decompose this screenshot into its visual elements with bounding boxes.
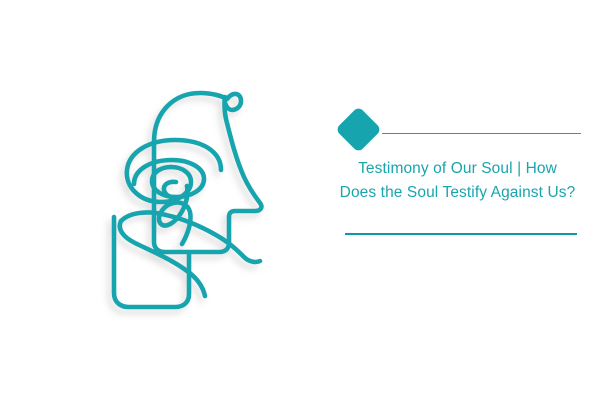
mind-spiral-inner-path: [134, 160, 204, 197]
page-title: Testimony of Our Soul | How Does the Sou…: [330, 157, 585, 205]
page-canvas: Testimony of Our Soul | How Does the Sou…: [0, 0, 600, 400]
title-header-block: Testimony of Our Soul | How Does the Sou…: [330, 105, 585, 245]
top-divider-line: [382, 133, 581, 134]
head-line-art-svg: [80, 70, 300, 320]
diamond-icon: [335, 106, 382, 153]
diamond-divider-row: [330, 105, 585, 160]
lower-sweep-2-path: [120, 221, 205, 296]
neck-path: [114, 217, 189, 307]
head-line-art-illustration: [80, 70, 300, 320]
bottom-divider-line: [345, 233, 577, 235]
head-outline-group: [114, 93, 261, 307]
